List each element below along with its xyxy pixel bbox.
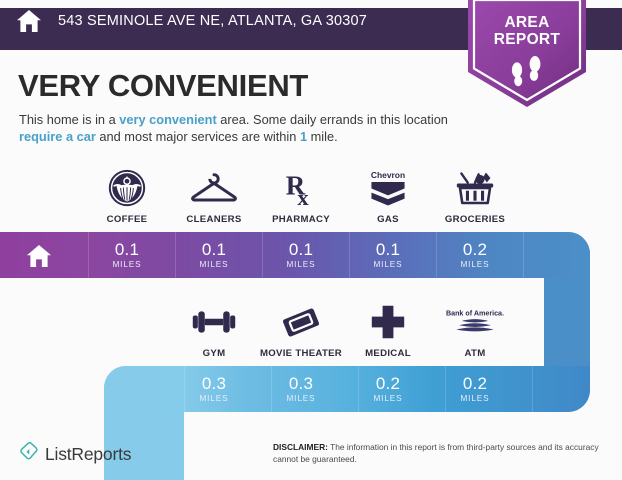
summary-part-1: This home is in a [19,112,119,127]
category-label: CLEANERS [166,214,262,225]
distance-value-cleaners: 0.1 MILES [166,240,262,269]
distance-value-groceries: 0.2 MILES [427,240,523,269]
distance-number: 0.2 [427,240,523,259]
listreports-tag-icon [18,441,39,467]
category-cleaners: CLEANERS [166,166,262,225]
svg-text:x: x [297,185,309,208]
summary-part-2: area. Some daily errands in this locatio… [217,112,448,127]
category-pharmacy: R x PHARMACY [253,166,349,225]
distance-value-gym: 0.3 MILES [166,374,262,403]
distance-unit: MILES [253,260,349,269]
distance-number: 0.1 [340,240,436,259]
distance-unit: MILES [166,260,262,269]
clothes-hanger-icon [166,166,262,210]
category-label: GAS [340,214,436,225]
distance-number: 0.2 [340,374,436,393]
area-report-badge: AREA REPORT [468,0,586,108]
distance-number: 0.3 [166,374,262,393]
badge-line-2: REPORT [468,31,586,48]
badge-line-1: AREA [468,14,586,31]
summary-part-4: mile. [307,129,338,144]
category-gym: GYM [166,300,262,359]
distance-value-movie-theater: 0.3 MILES [253,374,349,403]
disclaimer: DISCLAIMER: The information in this repo… [273,442,605,465]
summary-highlight-car: require a car [19,129,96,144]
svg-text:Chevron: Chevron [371,169,405,179]
category-label: GYM [166,348,262,359]
grocery-basket-icon [427,166,523,210]
distance-unit: MILES [166,394,262,403]
area-report-page: 543 SEMINOLE AVE NE, ATLANTA, GA 30307 A… [0,0,622,480]
distance-unit: MILES [427,260,523,269]
summary-part-3: and most major services are within [96,129,300,144]
category-label: MEDICAL [340,348,436,359]
category-groceries: GROCERIES [427,166,523,225]
distance-value-atm: 0.2 MILES [427,374,523,403]
badge-text: AREA REPORT [468,14,586,48]
category-label: COFFEE [79,214,175,225]
cell-divider [532,366,533,412]
category-movie-theater: MOVIE THEATER [253,300,349,359]
distance-number: 0.2 [427,374,523,393]
distance-unit: MILES [79,260,175,269]
distance-value-medical: 0.2 MILES [340,374,436,403]
bank-of-america-icon: Bank of America. [427,300,523,344]
dumbbell-icon [166,300,262,344]
summary-highlight-convenient: very convenient [119,112,216,127]
movie-ticket-icon [253,300,349,344]
summary-highlight-distance: 1 [300,129,307,144]
cell-divider [523,232,524,278]
distance-unit: MILES [253,394,349,403]
distance-value-coffee: 0.1 MILES [79,240,175,269]
distance-number: 0.1 [166,240,262,259]
distance-value-gas: 0.1 MILES [340,240,436,269]
summary-text: This home is in a very convenient area. … [19,112,469,145]
distance-unit: MILES [427,394,523,403]
category-atm: Bank of America. ATM [427,300,523,359]
distance-number: 0.1 [79,240,175,259]
category-label: MOVIE THEATER [253,348,349,359]
distance-unit: MILES [340,260,436,269]
category-medical: MEDICAL [340,300,436,359]
home-icon [16,9,42,33]
rx-prescription-icon: R x [253,166,349,210]
category-gas: Chevron GAS [340,166,436,225]
category-label: PHARMACY [253,214,349,225]
home-marker-icon [26,244,52,268]
listreports-wordmark: ListReports [45,444,131,465]
property-address: 543 SEMINOLE AVE NE, ATLANTA, GA 30307 [58,13,367,29]
distance-number: 0.3 [253,374,349,393]
starbucks-coffee-icon [79,166,175,210]
chevron-gas-icon: Chevron [340,166,436,210]
category-coffee: COFFEE [79,166,175,225]
category-label: GROCERIES [427,214,523,225]
distance-value-pharmacy: 0.1 MILES [253,240,349,269]
distance-unit: MILES [340,394,436,403]
category-label: ATM [427,348,523,359]
distance-number: 0.1 [253,240,349,259]
listreports-logo[interactable]: ListReports [18,441,131,467]
page-title: VERY CONVENIENT [18,68,308,104]
disclaimer-label: DISCLAIMER: [273,442,328,452]
svg-text:Bank of America.: Bank of America. [446,309,504,317]
medical-cross-icon [340,300,436,344]
